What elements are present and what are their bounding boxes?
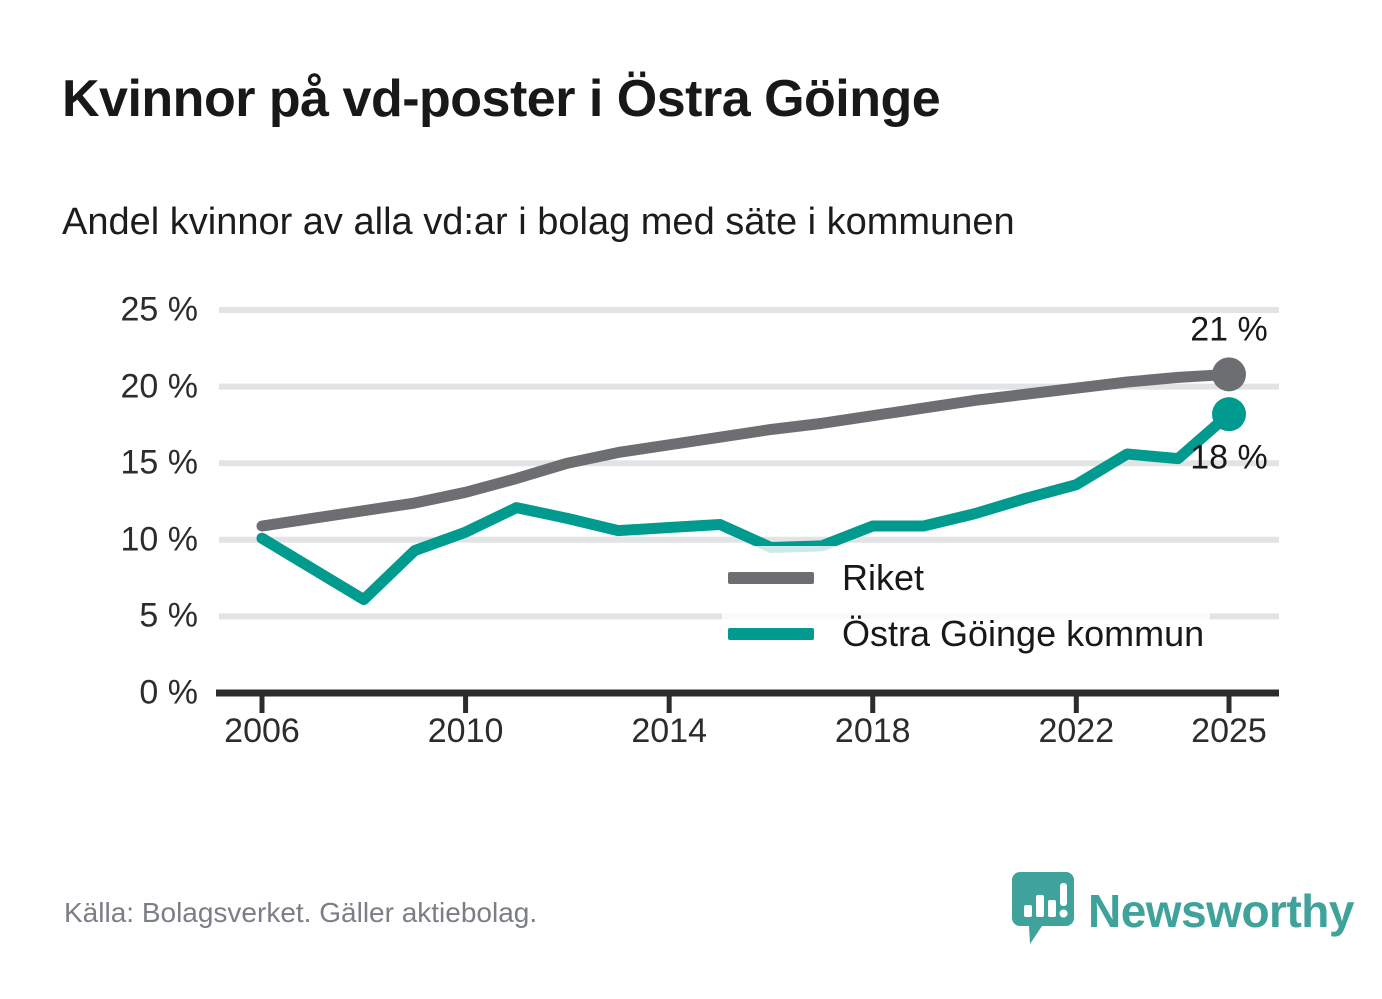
series-end-marker bbox=[1212, 357, 1246, 391]
newsworthy-logo[interactable]: Newsworthy bbox=[1012, 872, 1354, 949]
chart-page: Kvinnor på vd-poster i Östra Göinge Ande… bbox=[0, 0, 1382, 999]
end-value-label: 18 % bbox=[1190, 439, 1268, 478]
chart-legend: Riket Östra Göinge kommun bbox=[722, 546, 1210, 668]
y-axis-tick-label: 15 % bbox=[121, 444, 199, 483]
legend-label-ostra-goinge-kommun: Östra Göinge kommun bbox=[842, 613, 1204, 655]
y-axis-tick-label: 20 % bbox=[121, 367, 199, 406]
end-value-label: 21 % bbox=[1190, 311, 1268, 350]
y-axis-tick-label: 10 % bbox=[121, 520, 199, 559]
newsworthy-wordmark: Newsworthy bbox=[1088, 884, 1354, 938]
x-axis-tick-label: 2014 bbox=[631, 712, 707, 751]
line-chart-plot bbox=[0, 0, 1382, 999]
legend-item-ostra-goinge-kommun[interactable]: Östra Göinge kommun bbox=[728, 606, 1204, 662]
series-end-marker bbox=[1212, 397, 1246, 431]
y-axis-tick-label: 0 % bbox=[139, 674, 198, 713]
source-note: Källa: Bolagsverket. Gäller aktiebolag. bbox=[64, 897, 537, 929]
x-axis-tick-label: 2018 bbox=[835, 712, 911, 751]
x-axis-tick-label: 2022 bbox=[1038, 712, 1114, 751]
x-axis-tick-label: 2025 bbox=[1191, 712, 1267, 751]
series-line bbox=[262, 374, 1229, 526]
legend-item-riket[interactable]: Riket bbox=[728, 550, 1204, 606]
newsworthy-speech-bubble-bar-chart-icon bbox=[1012, 872, 1074, 949]
x-axis-tick-label: 2006 bbox=[224, 712, 300, 751]
legend-label-riket: Riket bbox=[842, 557, 924, 599]
legend-swatch-ostra-goinge-kommun bbox=[728, 628, 814, 640]
y-axis-tick-label: 25 % bbox=[121, 291, 199, 330]
x-axis-tick-label: 2010 bbox=[428, 712, 504, 751]
legend-swatch-riket bbox=[728, 572, 814, 584]
y-axis-tick-label: 5 % bbox=[139, 597, 198, 636]
